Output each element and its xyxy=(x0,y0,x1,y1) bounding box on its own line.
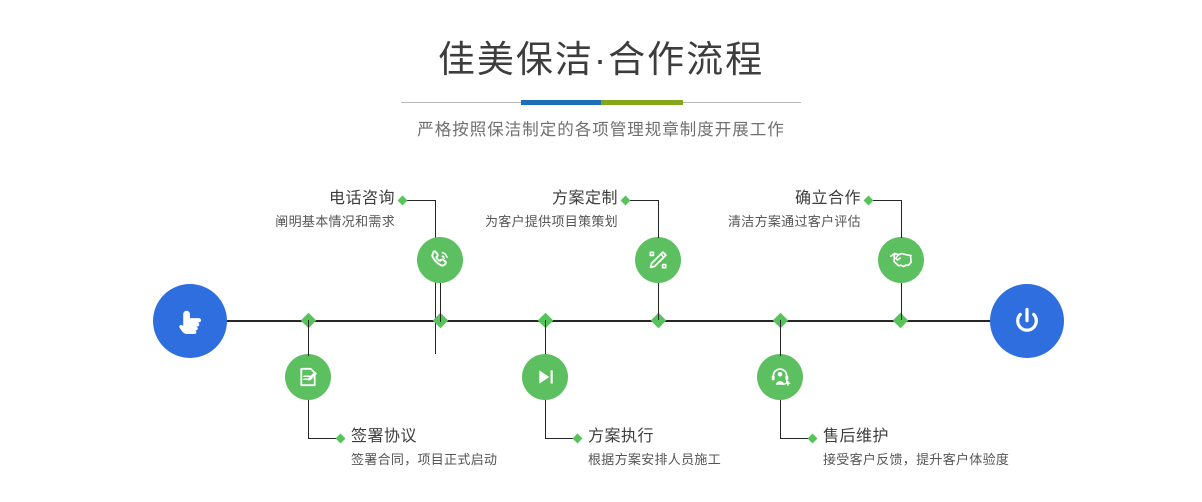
step-label-6: 售后维护 接受客户反馈，提升客户体验度 xyxy=(823,426,1163,470)
play-execute-icon xyxy=(532,364,558,390)
stem-5 xyxy=(901,283,902,320)
divider-segment-blue xyxy=(521,100,601,105)
stem-2b xyxy=(308,320,309,356)
header: 佳美保洁·合作流程 严格按照保洁制定的各项管理规章制度开展工作 xyxy=(0,0,1202,140)
page-subtitle: 严格按照保洁制定的各项管理规章制度开展工作 xyxy=(0,116,1202,140)
stem-1b xyxy=(440,283,441,320)
connector-tip-5 xyxy=(864,196,874,206)
step-node-4 xyxy=(522,354,568,400)
timeline: 电话咨询 阐明基本情况和需求 方案执行 根据方案安排人员施工 xyxy=(0,160,1202,502)
step-node-2 xyxy=(285,354,331,400)
step-title-6: 售后维护 xyxy=(823,426,1163,448)
document-edit-icon xyxy=(295,364,321,390)
pencil-ruler-icon xyxy=(645,247,671,273)
timeline-start-endpoint xyxy=(153,284,227,358)
timeline-axis xyxy=(160,320,1045,322)
step-node-5 xyxy=(878,237,924,283)
process-flow-infographic: 佳美保洁·合作流程 严格按照保洁制定的各项管理规章制度开展工作 xyxy=(0,0,1202,502)
phone-call-icon xyxy=(427,247,453,273)
step-label-5: 确立合作 清洁方案通过客户评估 xyxy=(561,188,861,232)
handshake-icon xyxy=(888,247,914,273)
timeline-end-endpoint xyxy=(990,284,1064,358)
step-node-3 xyxy=(635,237,681,283)
pointing-hand-icon xyxy=(170,301,210,341)
step-title-2: 签署协议 xyxy=(351,426,671,448)
stem-6 xyxy=(780,320,781,356)
step-desc-5: 清洁方案通过客户评估 xyxy=(561,212,861,232)
stem-3b xyxy=(658,283,659,320)
step-node-6 xyxy=(757,354,803,400)
title-divider xyxy=(401,96,801,110)
headset-support-icon xyxy=(767,364,793,390)
connector-tip-2 xyxy=(336,434,346,444)
divider-segment-green xyxy=(601,100,683,105)
step-title-5: 确立合作 xyxy=(561,188,861,210)
step-desc-6: 接受客户反馈，提升客户体验度 xyxy=(823,450,1163,470)
step-node-1b xyxy=(417,237,463,283)
step-desc-2: 签署合同，项目正式启动 xyxy=(351,450,671,470)
page-title: 佳美保洁·合作流程 xyxy=(0,0,1202,82)
step-label-2: 签署协议 签署合同，项目正式启动 xyxy=(351,426,671,470)
power-icon xyxy=(1007,301,1047,341)
